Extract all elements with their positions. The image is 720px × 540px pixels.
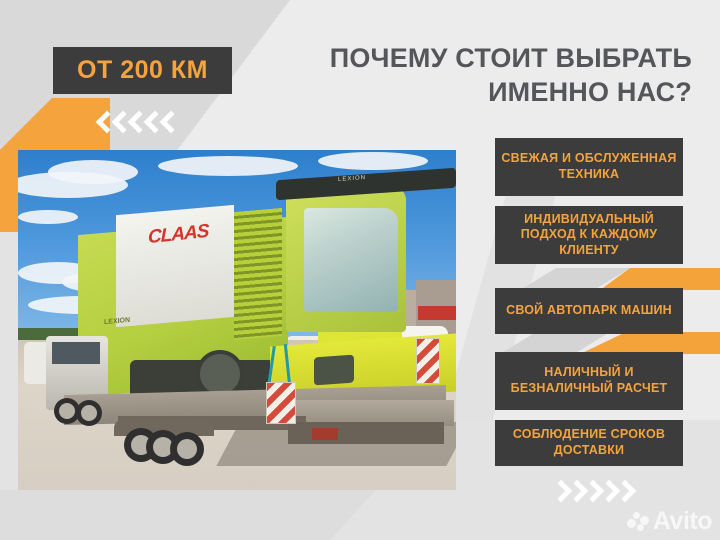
- avito-dots-icon: [627, 512, 649, 532]
- feature-box-1: СВЕЖАЯ И ОБСЛУЖЕННАЯ ТЕХНИКА: [495, 138, 683, 196]
- truck-windshield: [52, 342, 100, 364]
- feature-label: ИНДИВИДУАЛЬНЫЙ ПОДХОД К КАЖДОМУ КЛИЕНТУ: [501, 212, 677, 259]
- feature-label: СВОЙ АВТОПАРК МАШИН: [506, 303, 672, 319]
- feature-label: СВЕЖАЯ И ОБСЛУЖЕННАЯ ТЕХНИКА: [501, 151, 677, 182]
- cloud-icon: [318, 152, 428, 170]
- feature-box-4: НАЛИЧНЫЙ И БЕЗНАЛИЧНЫЙ РАСЧЕТ: [495, 352, 683, 410]
- chevron-left-icon-5: [162, 111, 175, 135]
- warning-plate: [416, 338, 440, 384]
- trailer-wheel: [170, 432, 204, 466]
- photo-red-machine: [418, 306, 456, 320]
- chevron-right-icon-3: [585, 480, 598, 504]
- chevron-right-icon-4: [601, 480, 614, 504]
- chevron-right-icon-5: [617, 480, 630, 504]
- harvester-header-opening: [314, 355, 354, 386]
- harvester-panel: [116, 205, 234, 327]
- chevron-left-icon: [98, 111, 175, 135]
- feature-label: НАЛИЧНЫЙ И БЕЗНАЛИЧНЫЙ РАСЧЕТ: [501, 365, 677, 396]
- harvester-photo: LEXION CLAAS LEXION: [18, 150, 456, 490]
- feature-box-5: СОБЛЮДЕНИЕ СРОКОВ ДОСТАВКИ: [495, 420, 683, 466]
- feature-box-2: ИНДИВИДУАЛЬНЫЙ ПОДХОД К КАЖДОМУ КЛИЕНТУ: [495, 206, 683, 264]
- cloud-icon: [158, 156, 298, 176]
- promo-poster: ОТ 200 КМ ПОЧЕМУ СТОИТ ВЫБРАТЬ ИМЕННО НА…: [0, 0, 720, 540]
- page-title: ПОЧЕМУ СТОИТ ВЫБРАТЬ ИМЕННО НАС?: [262, 42, 692, 110]
- trailer-taillight: [312, 428, 338, 440]
- chevron-left-icon-1: [98, 111, 111, 135]
- headline-line-2: ИМЕННО НАС?: [262, 76, 692, 110]
- avito-watermark: Avito: [627, 509, 712, 534]
- avito-wordmark: Avito: [653, 509, 712, 534]
- harvester-cab-glass: [304, 208, 398, 312]
- distance-badge-label: ОТ 200 КМ: [77, 56, 208, 85]
- cloud-icon: [48, 160, 138, 184]
- feature-box-3: СВОЙ АВТОПАРК МАШИН: [495, 288, 683, 334]
- distance-badge: ОТ 200 КМ: [53, 47, 232, 94]
- chevron-right-icon-2: [569, 480, 582, 504]
- chevron-left-icon-4: [146, 111, 159, 135]
- chevron-right-icon-1: [553, 480, 566, 504]
- harvester-grille: [234, 208, 282, 340]
- warning-plate: [266, 382, 296, 424]
- feature-label: СОБЛЮДЕНИЕ СРОКОВ ДОСТАВКИ: [501, 427, 677, 458]
- chevron-left-icon-3: [130, 111, 143, 135]
- chevron-left-icon-2: [114, 111, 127, 135]
- headline-line-1: ПОЧЕМУ СТОИТ ВЫБРАТЬ: [330, 43, 692, 73]
- truck-wheel: [76, 400, 102, 426]
- chevron-right-icon: [553, 480, 630, 504]
- cloud-icon: [18, 210, 78, 224]
